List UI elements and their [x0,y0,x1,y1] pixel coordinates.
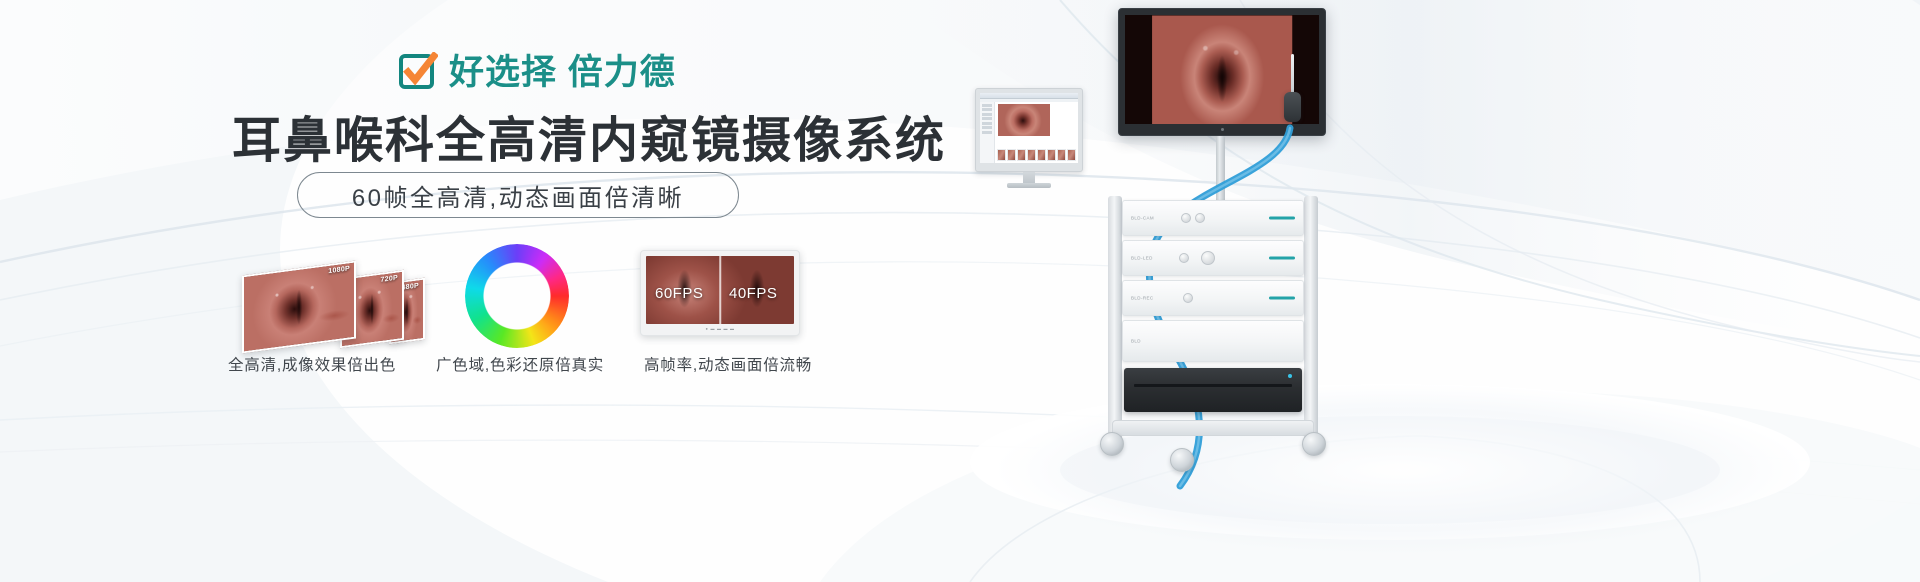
workstation-frame [975,88,1083,172]
cart-column-left [1108,196,1122,452]
workstation-screen [980,93,1078,163]
fps-monitor-bezel: ●▬▬▬▬ [641,324,799,333]
color-wheel-icon [465,244,569,348]
fps-label-right: 40FPS [729,285,777,302]
fps-comparison-monitor: 60FPS 40FPS ●▬▬▬▬ [640,250,800,336]
cart-unit-recorder: BLD-REC [1122,280,1304,316]
cart-caster-front [1170,448,1194,472]
cart-column-right [1304,196,1318,452]
feature-captions: 全高清,成像效果倍出色 广色域,色彩还原倍真实 高帧率,动态画面倍流畅 [210,358,850,388]
page-title: 耳鼻喉科全高清内窥镜摄像系统 [232,113,946,169]
monitor-mount-arm [1216,136,1225,202]
feature-caption-frame-rate: 高帧率,动态画面倍流畅 [644,358,812,374]
equipment-cart: BLD-CAM BLD-LED BLD-REC BLD [1106,196,1320,452]
banner-root: 好选择 倍力德 耳鼻喉科全高清内窥镜摄像系统 60帧全高清,动态画面倍清晰 48… [0,0,1920,582]
feature-color-gamut-graphic [465,244,575,354]
feature-resolution-graphic: 480P 720P 1080P [228,250,418,350]
brand-logo-text: 好选择 倍力德 [449,55,676,90]
endoscope-grip [1284,92,1301,122]
feature-frame-rate-graphic: 60FPS 40FPS ●▬▬▬▬ [640,250,810,352]
subtitle-pill-label: 60帧全高清,动态画面倍清晰 [352,178,684,213]
workstation-monitor [975,88,1083,172]
endoscope-handle [1278,84,1308,130]
resolution-shot-1080p: 1080P [242,260,356,353]
cart-unit-shelf: BLD [1122,320,1304,362]
fps-label-left: 60FPS [655,285,703,302]
cart-base [1112,420,1314,436]
product-image: BLD-CAM BLD-LED BLD-REC BLD [930,0,1920,582]
workstation-base [1007,183,1051,188]
checkbox-check-icon [398,52,438,92]
feature-caption-resolution: 全高清,成像效果倍出色 [228,358,396,374]
cart-unit-camera-processor: BLD-CAM [1122,200,1304,236]
brand-logo: 好选择 倍力德 [398,52,676,92]
text-panel: 好选择 倍力德 耳鼻喉科全高清内窥镜摄像系统 60帧全高清,动态画面倍清晰 48… [0,0,900,582]
cart-unit-light-source: BLD-LED [1122,240,1304,276]
cart-printer [1124,368,1302,412]
endoscope-tip [1291,54,1294,94]
subtitle-pill: 60帧全高清,动态画面倍清晰 [297,172,739,218]
cart-caster-left [1100,432,1124,456]
cart-caster-right [1302,432,1326,456]
feature-caption-color-gamut: 广色域,色彩还原倍真实 [436,358,604,374]
